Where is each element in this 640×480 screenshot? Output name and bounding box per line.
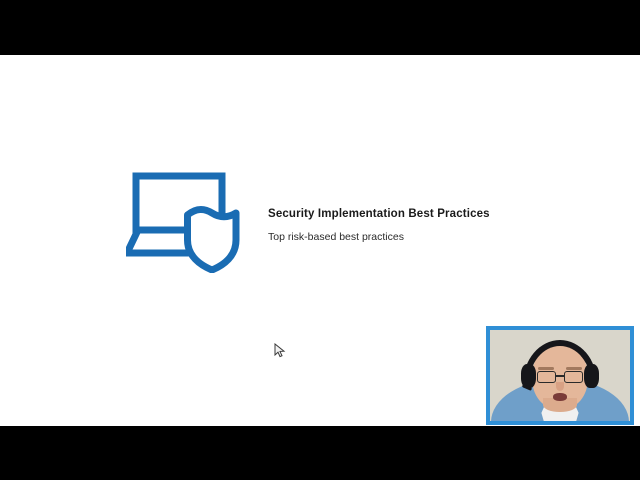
webcam-video-surface xyxy=(490,330,630,421)
slide-subtitle: Top risk-based best practices xyxy=(268,230,568,244)
presenter-webcam[interactable] xyxy=(486,326,634,425)
presenter-mouth xyxy=(553,393,567,401)
video-player-frame: Security Implementation Best Practices T… xyxy=(0,0,640,480)
laptop-shield-icon xyxy=(126,168,250,273)
slide-text-block: Security Implementation Best Practices T… xyxy=(268,207,568,244)
slide-title: Security Implementation Best Practices xyxy=(268,207,568,222)
letterbox-top-bar xyxy=(0,0,640,55)
letterbox-bottom-bar xyxy=(0,426,640,480)
mouse-pointer-icon xyxy=(274,343,286,359)
headphones-earcup-right-icon xyxy=(584,364,599,388)
